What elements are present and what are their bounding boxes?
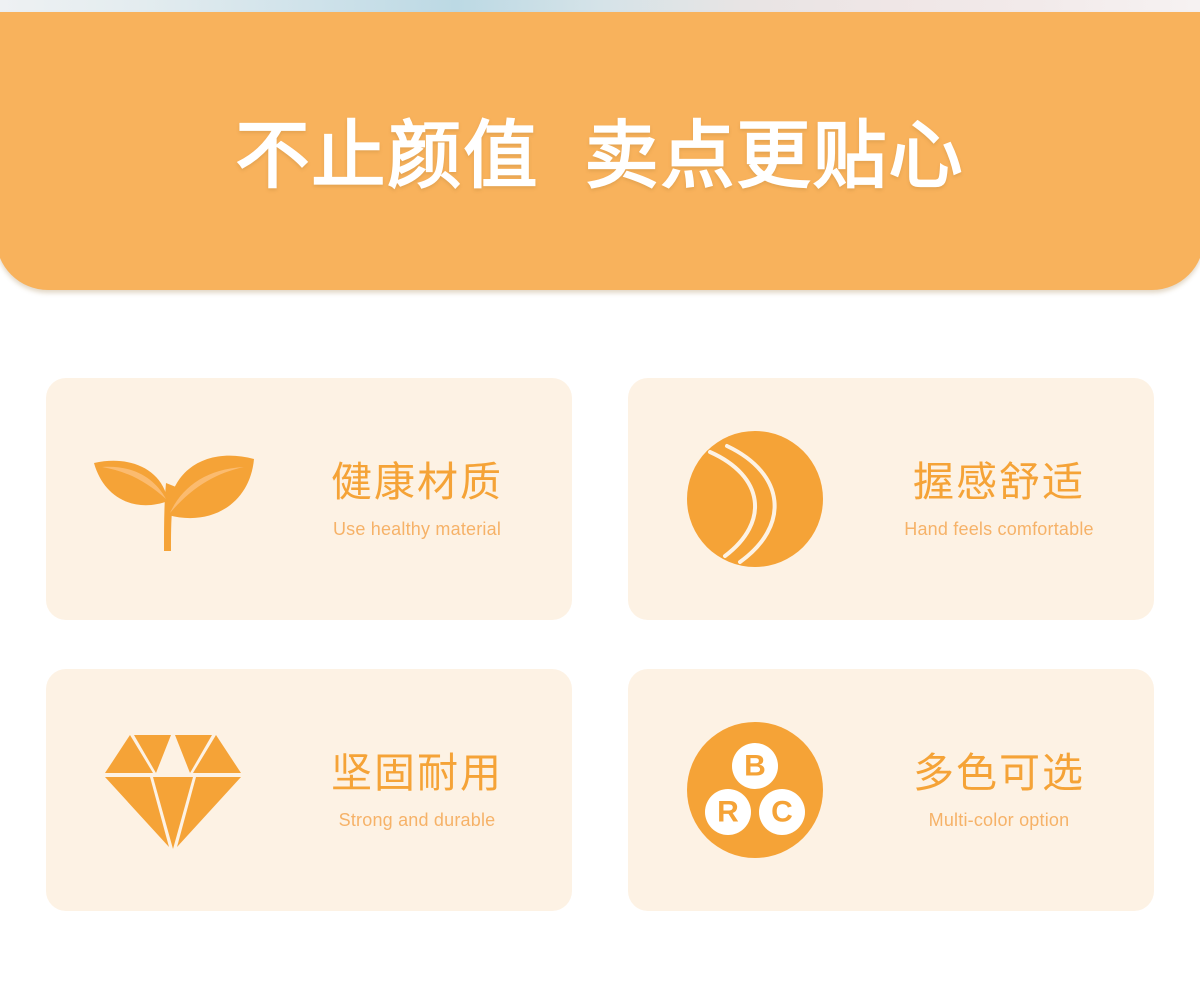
leaf-plant-icon xyxy=(70,443,276,555)
feature-title: 健康材质 xyxy=(331,458,503,506)
feature-card-multi-color[interactable]: B R C 多色可选 Multi-color option xyxy=(628,669,1154,911)
diamond-icon xyxy=(70,729,276,851)
feature-title: 坚固耐用 xyxy=(331,749,503,797)
color-options-brc-icon: B R C xyxy=(652,721,858,859)
feature-card-text: 握感舒适 Hand feels comfortable xyxy=(858,458,1154,539)
feature-card-text: 多色可选 Multi-color option xyxy=(858,749,1154,830)
feature-grid: 健康材质 Use healthy material 握感舒适 Hand feel… xyxy=(46,378,1154,911)
feature-subtitle: Strong and durable xyxy=(339,810,496,831)
header-banner: 不止颜值 卖点更贴心 xyxy=(0,12,1200,290)
top-residual-strip xyxy=(0,0,1200,12)
feature-card-text: 坚固耐用 Strong and durable xyxy=(276,749,572,830)
badge-letter-c: C xyxy=(771,796,793,829)
feature-title: 多色可选 xyxy=(913,749,1085,797)
feature-subtitle: Multi-color option xyxy=(929,810,1070,831)
feature-card-comfortable-grip[interactable]: 握感舒适 Hand feels comfortable xyxy=(628,378,1154,620)
feature-subtitle: Hand feels comfortable xyxy=(904,519,1094,540)
feature-card-healthy-material[interactable]: 健康材质 Use healthy material xyxy=(46,378,572,620)
feature-card-text: 健康材质 Use healthy material xyxy=(276,458,572,539)
feature-card-strong-durable[interactable]: 坚固耐用 Strong and durable xyxy=(46,669,572,911)
banner-title: 不止颜值 卖点更贴心 xyxy=(235,119,964,193)
feature-title: 握感舒适 xyxy=(913,458,1085,506)
grip-ball-icon xyxy=(652,430,858,568)
badge-letter-r: R xyxy=(717,796,739,829)
feature-subtitle: Use healthy material xyxy=(333,519,501,540)
badge-letter-b: B xyxy=(744,750,766,783)
